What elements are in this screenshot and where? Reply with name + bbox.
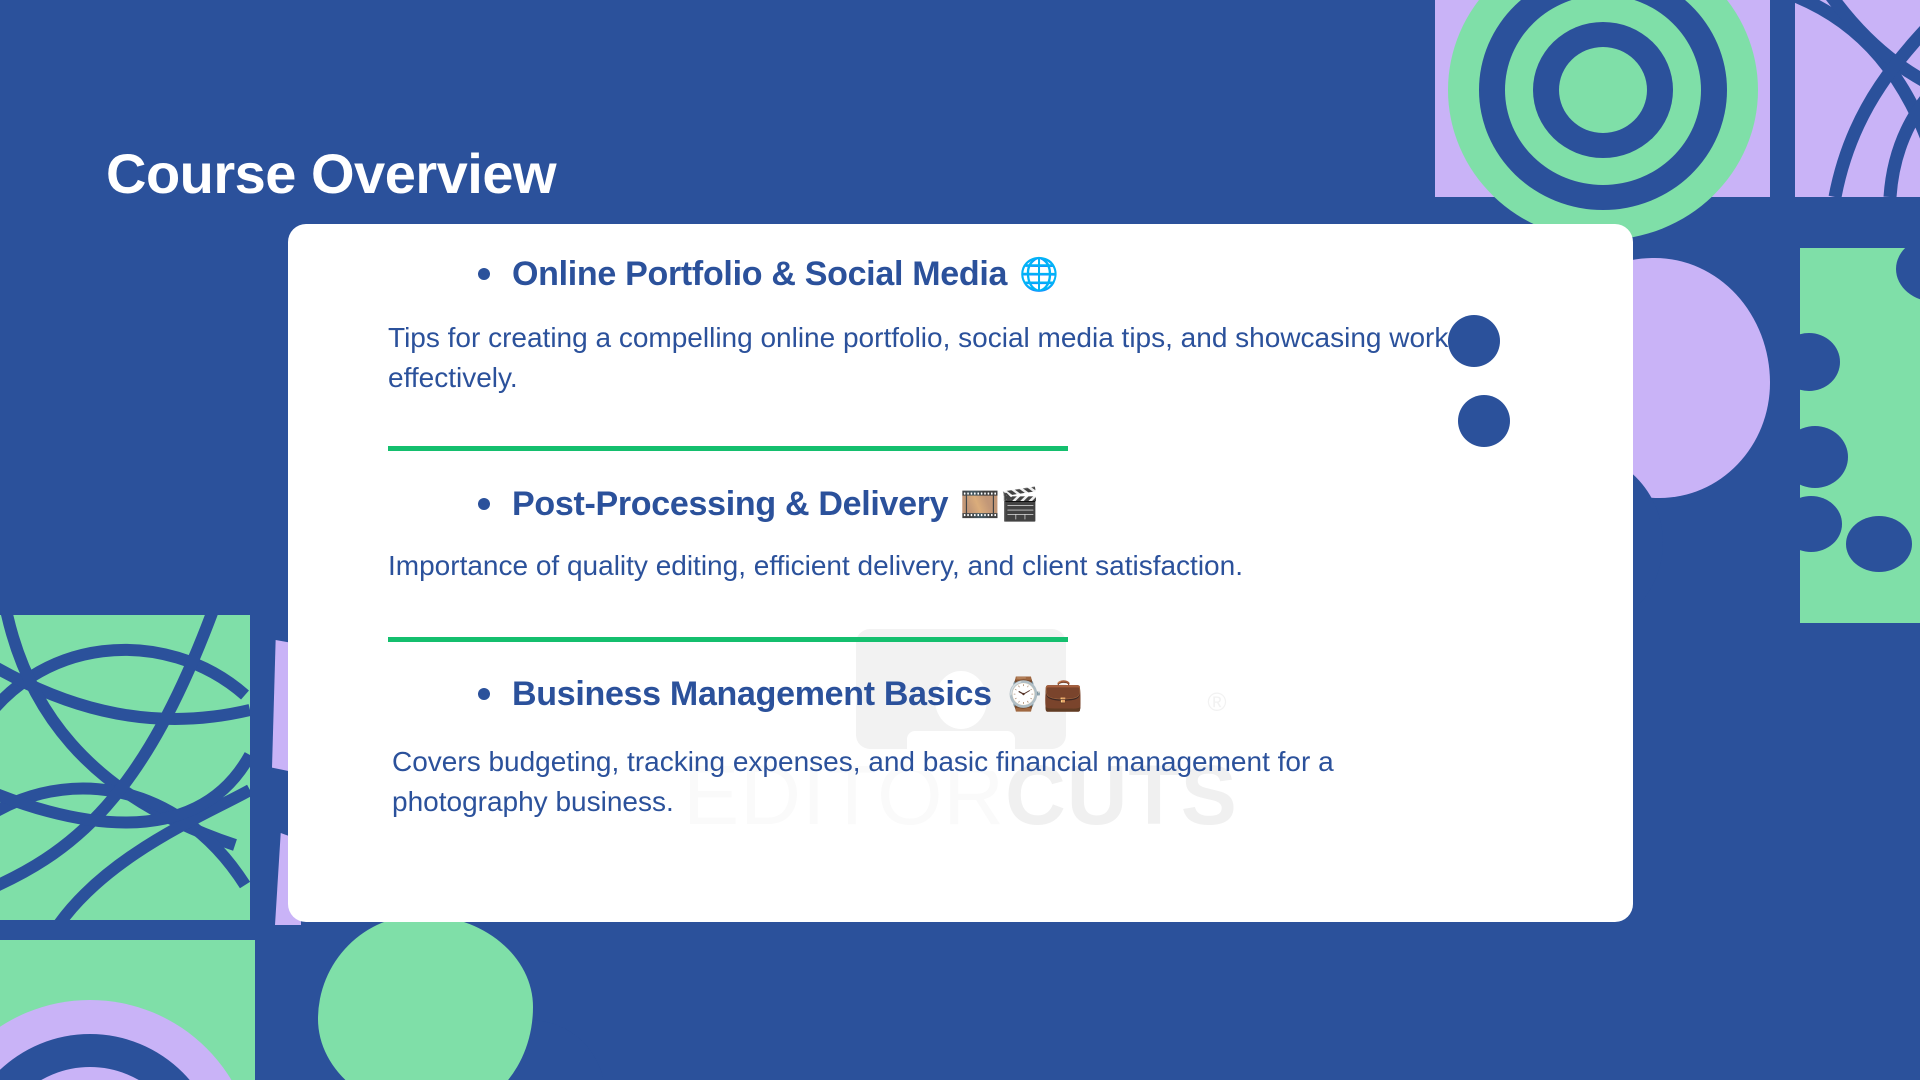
film-frames-clapper-board-icon: 🎞️🎬 bbox=[960, 488, 1039, 520]
section-heading-label: Business Management Basics bbox=[512, 672, 992, 716]
list-item: Business Management Basics ⌚💼 Covers bud… bbox=[288, 672, 1633, 822]
section-heading: Business Management Basics ⌚💼 bbox=[288, 672, 1633, 716]
list-item: Post-Processing & Delivery 🎞️🎬 Importanc… bbox=[288, 482, 1633, 586]
concentric-arcs-decoration-bottom-left bbox=[0, 940, 255, 1080]
bullet-point-icon bbox=[478, 688, 490, 700]
page-title: Course Overview bbox=[106, 143, 556, 205]
green-blob-decoration-bottom bbox=[318, 915, 533, 1080]
globe-icon: 🌐 bbox=[1019, 258, 1059, 290]
section-body-text: Importance of quality editing, efficient… bbox=[288, 546, 1528, 586]
section-divider bbox=[388, 637, 1068, 642]
section-heading-label: Post-Processing & Delivery bbox=[512, 482, 948, 526]
watch-briefcase-icon: ⌚💼 bbox=[1004, 678, 1083, 710]
slide-canvas: Course Overview EDITORCUTS ® Online Port… bbox=[0, 0, 1920, 1080]
bullet-point-icon bbox=[478, 498, 490, 510]
section-heading: Online Portfolio & Social Media 🌐 bbox=[288, 252, 1633, 296]
blue-dot-decoration-small-lower bbox=[1458, 395, 1510, 447]
blue-circle-decoration-bottom bbox=[455, 1020, 605, 1080]
section-heading-label: Online Portfolio & Social Media bbox=[512, 252, 1007, 296]
curve-lines-svg bbox=[1795, 0, 1920, 197]
concentric-rings-decoration-top-right bbox=[1435, 0, 1770, 197]
polka-dot-panel-right bbox=[1800, 248, 1920, 623]
curved-lines-decoration-top-right bbox=[1795, 0, 1920, 197]
list-item: Online Portfolio & Social Media 🌐 Tips f… bbox=[288, 252, 1633, 398]
section-body-text: Covers budgeting, tracking expenses, and… bbox=[288, 742, 1532, 822]
bullet-point-icon bbox=[478, 268, 490, 280]
section-heading: Post-Processing & Delivery 🎞️🎬 bbox=[288, 482, 1633, 526]
squiggle-svg bbox=[0, 615, 250, 920]
squiggle-lines-decoration-bottom-left bbox=[0, 615, 250, 920]
section-divider bbox=[388, 446, 1068, 451]
section-body-text: Tips for creating a compelling online po… bbox=[288, 318, 1528, 398]
content-card: EDITORCUTS ® Online Portfolio & Social M… bbox=[288, 224, 1633, 922]
